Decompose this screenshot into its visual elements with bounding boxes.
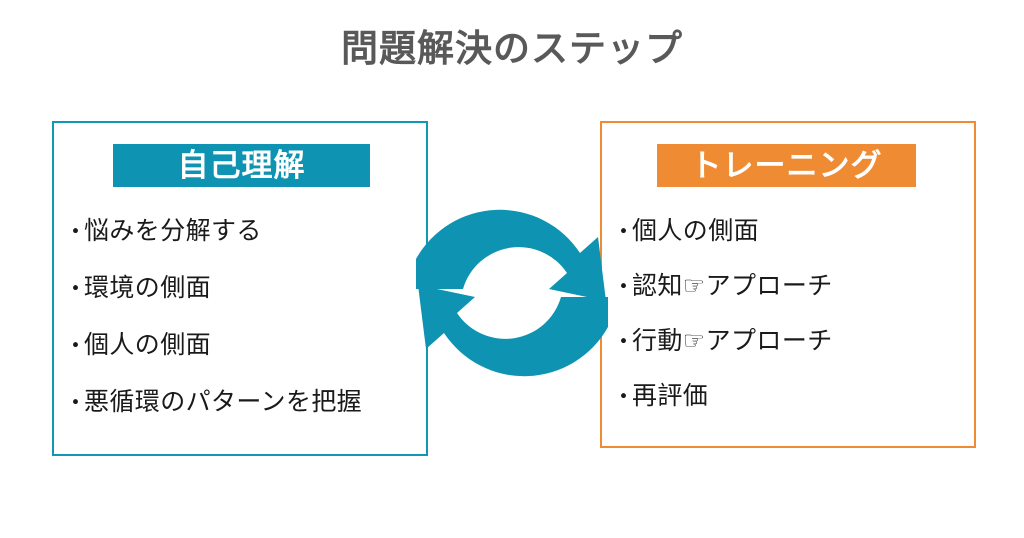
list-item: ・ 悪循環のパターンを把握: [64, 382, 420, 439]
slide-canvas: 問題解決のステップ 自己理解 ・ 悩みを分解する ・ 環境の側面 ・ 個人の側面…: [0, 0, 1024, 538]
list-item: ・ 認知☞アプローチ: [612, 266, 968, 321]
bullet-dot-icon: ・: [612, 385, 632, 408]
bullet-dot-icon: ・: [64, 334, 84, 357]
panel-training: トレーニング ・ 個人の側面 ・ 認知☞アプローチ ・ 行動☞アプローチ ・ 再…: [600, 121, 976, 448]
bullet-dot-icon: ・: [64, 277, 84, 300]
panel-right-header: トレーニング: [657, 144, 916, 187]
list-item-label: 個人の側面: [84, 325, 211, 361]
bullet-dot-icon: ・: [612, 330, 632, 353]
list-item-label: 再評価: [632, 376, 708, 412]
cycle-arrows-icon: [410, 193, 614, 393]
list-item: ・ 環境の側面: [64, 268, 420, 325]
bullet-dot-icon: ・: [64, 220, 84, 243]
page-title: 問題解決のステップ: [0, 28, 1024, 71]
list-item-label: 個人の側面: [632, 211, 759, 247]
bullet-dot-icon: ・: [64, 391, 84, 414]
list-item: ・ 個人の側面: [612, 211, 968, 266]
bullet-dot-icon: ・: [612, 220, 632, 243]
list-item: ・ 悩みを分解する: [64, 211, 420, 268]
panel-self-understanding: 自己理解 ・ 悩みを分解する ・ 環境の側面 ・ 個人の側面 ・ 悪循環のパター…: [52, 121, 428, 456]
panel-right-bullet-list: ・ 個人の側面 ・ 認知☞アプローチ ・ 行動☞アプローチ ・ 再評価: [612, 211, 968, 431]
list-item-label: 悩みを分解する: [84, 211, 262, 247]
list-item-label: 悪循環のパターンを把握: [84, 382, 362, 418]
list-item-label: 行動☞アプローチ: [632, 321, 833, 357]
list-item: ・ 個人の側面: [64, 325, 420, 382]
list-item-label: 環境の側面: [84, 268, 211, 304]
list-item: ・ 再評価: [612, 376, 968, 431]
bullet-dot-icon: ・: [612, 275, 632, 298]
panel-left-header: 自己理解: [113, 144, 370, 187]
panel-left-bullet-list: ・ 悩みを分解する ・ 環境の側面 ・ 個人の側面 ・ 悪循環のパターンを把握: [64, 211, 420, 439]
list-item: ・ 行動☞アプローチ: [612, 321, 968, 376]
list-item-label: 認知☞アプローチ: [632, 266, 833, 302]
